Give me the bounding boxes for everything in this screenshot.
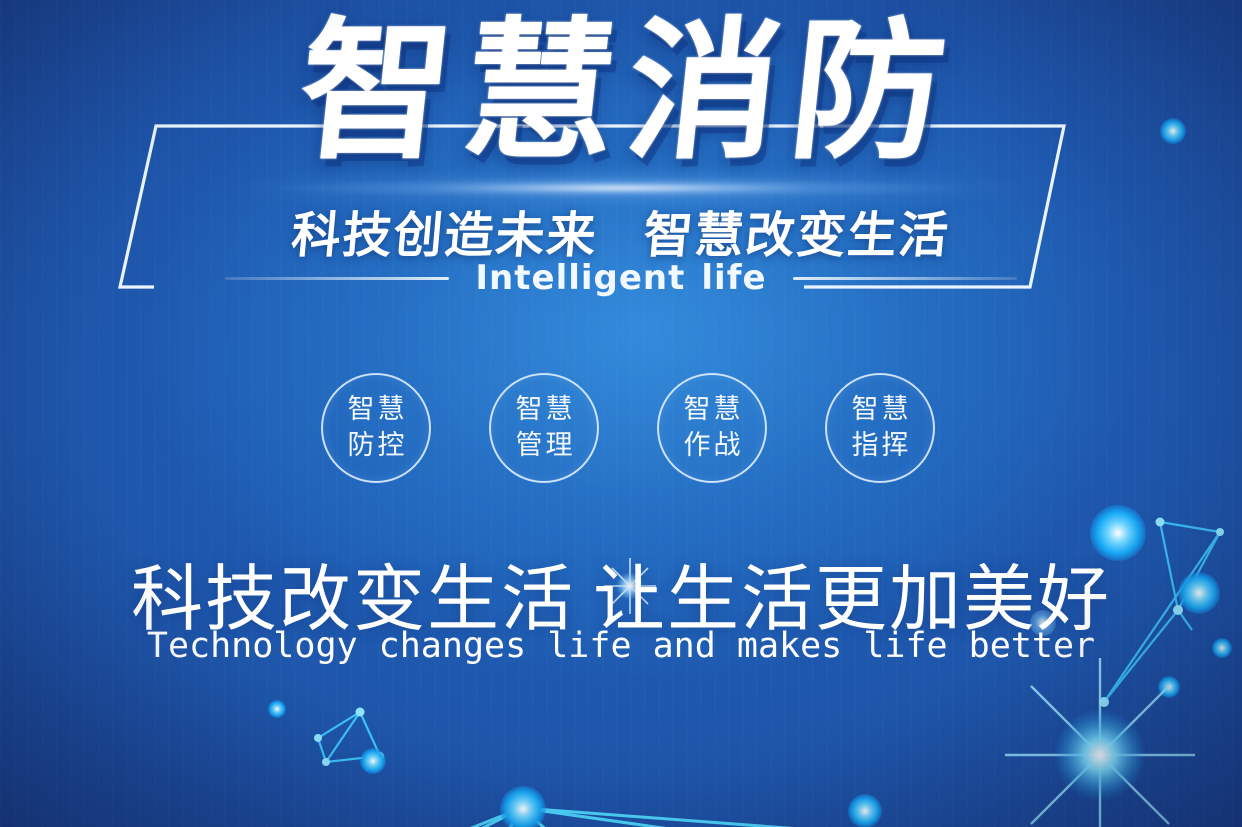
english-subtitle-word-2: life (701, 258, 766, 298)
sub-title: 科技创造未来智慧改变生活 (0, 196, 1242, 267)
glow-dot (500, 786, 546, 827)
feature-circle-line1: 智慧 (681, 392, 744, 428)
rule-left (225, 277, 449, 280)
sub-title-left: 科技创造未来 (289, 207, 600, 264)
sub-title-right: 智慧改变生活 (641, 207, 952, 264)
feature-circle-line1: 智慧 (513, 392, 576, 428)
glow-dot (360, 748, 386, 774)
english-subtitle-word-1: Intelligent (475, 258, 685, 298)
feature-circle-guanli[interactable]: 智慧 管理 (489, 373, 599, 483)
glow-dot (1158, 676, 1180, 698)
feature-circle-line2: 指挥 (849, 428, 912, 464)
feature-circle-line2: 作战 (681, 428, 744, 464)
feature-circle-zhihui[interactable]: 智慧 指挥 (825, 373, 935, 483)
feature-circle-line2: 管理 (513, 428, 576, 464)
network-node-burst-bottom (300, 760, 1020, 827)
constellation-network-bottom-left (290, 690, 500, 820)
page-title: 智慧消防 (278, 12, 965, 172)
tagline-english: Technology changes life and makes life b… (0, 626, 1242, 666)
main-title-block: 智慧消防 (0, 12, 1242, 172)
feature-circle-line2: 防控 (345, 428, 408, 464)
glow-dot (848, 794, 882, 827)
feature-circle-line1: 智慧 (345, 392, 408, 428)
feature-circle-row: 智慧 防控 智慧 管理 智慧 作战 智慧 指挥 (0, 372, 1242, 484)
feature-circle-zuozhan[interactable]: 智慧 作战 (657, 373, 767, 483)
feature-circle-line1: 智慧 (849, 392, 912, 428)
star-burst-icon (985, 640, 1215, 827)
poster-canvas: 智慧消防 科技创造未来智慧改变生活 Intelligentlife 智慧 防控 … (0, 0, 1242, 827)
feature-circle-fangkong[interactable]: 智慧 防控 (321, 373, 431, 483)
rule-right (793, 277, 1017, 280)
glow-dot (268, 700, 286, 718)
english-subtitle: Intelligentlife (475, 258, 766, 298)
english-subtitle-row: Intelligentlife (140, 258, 1102, 298)
